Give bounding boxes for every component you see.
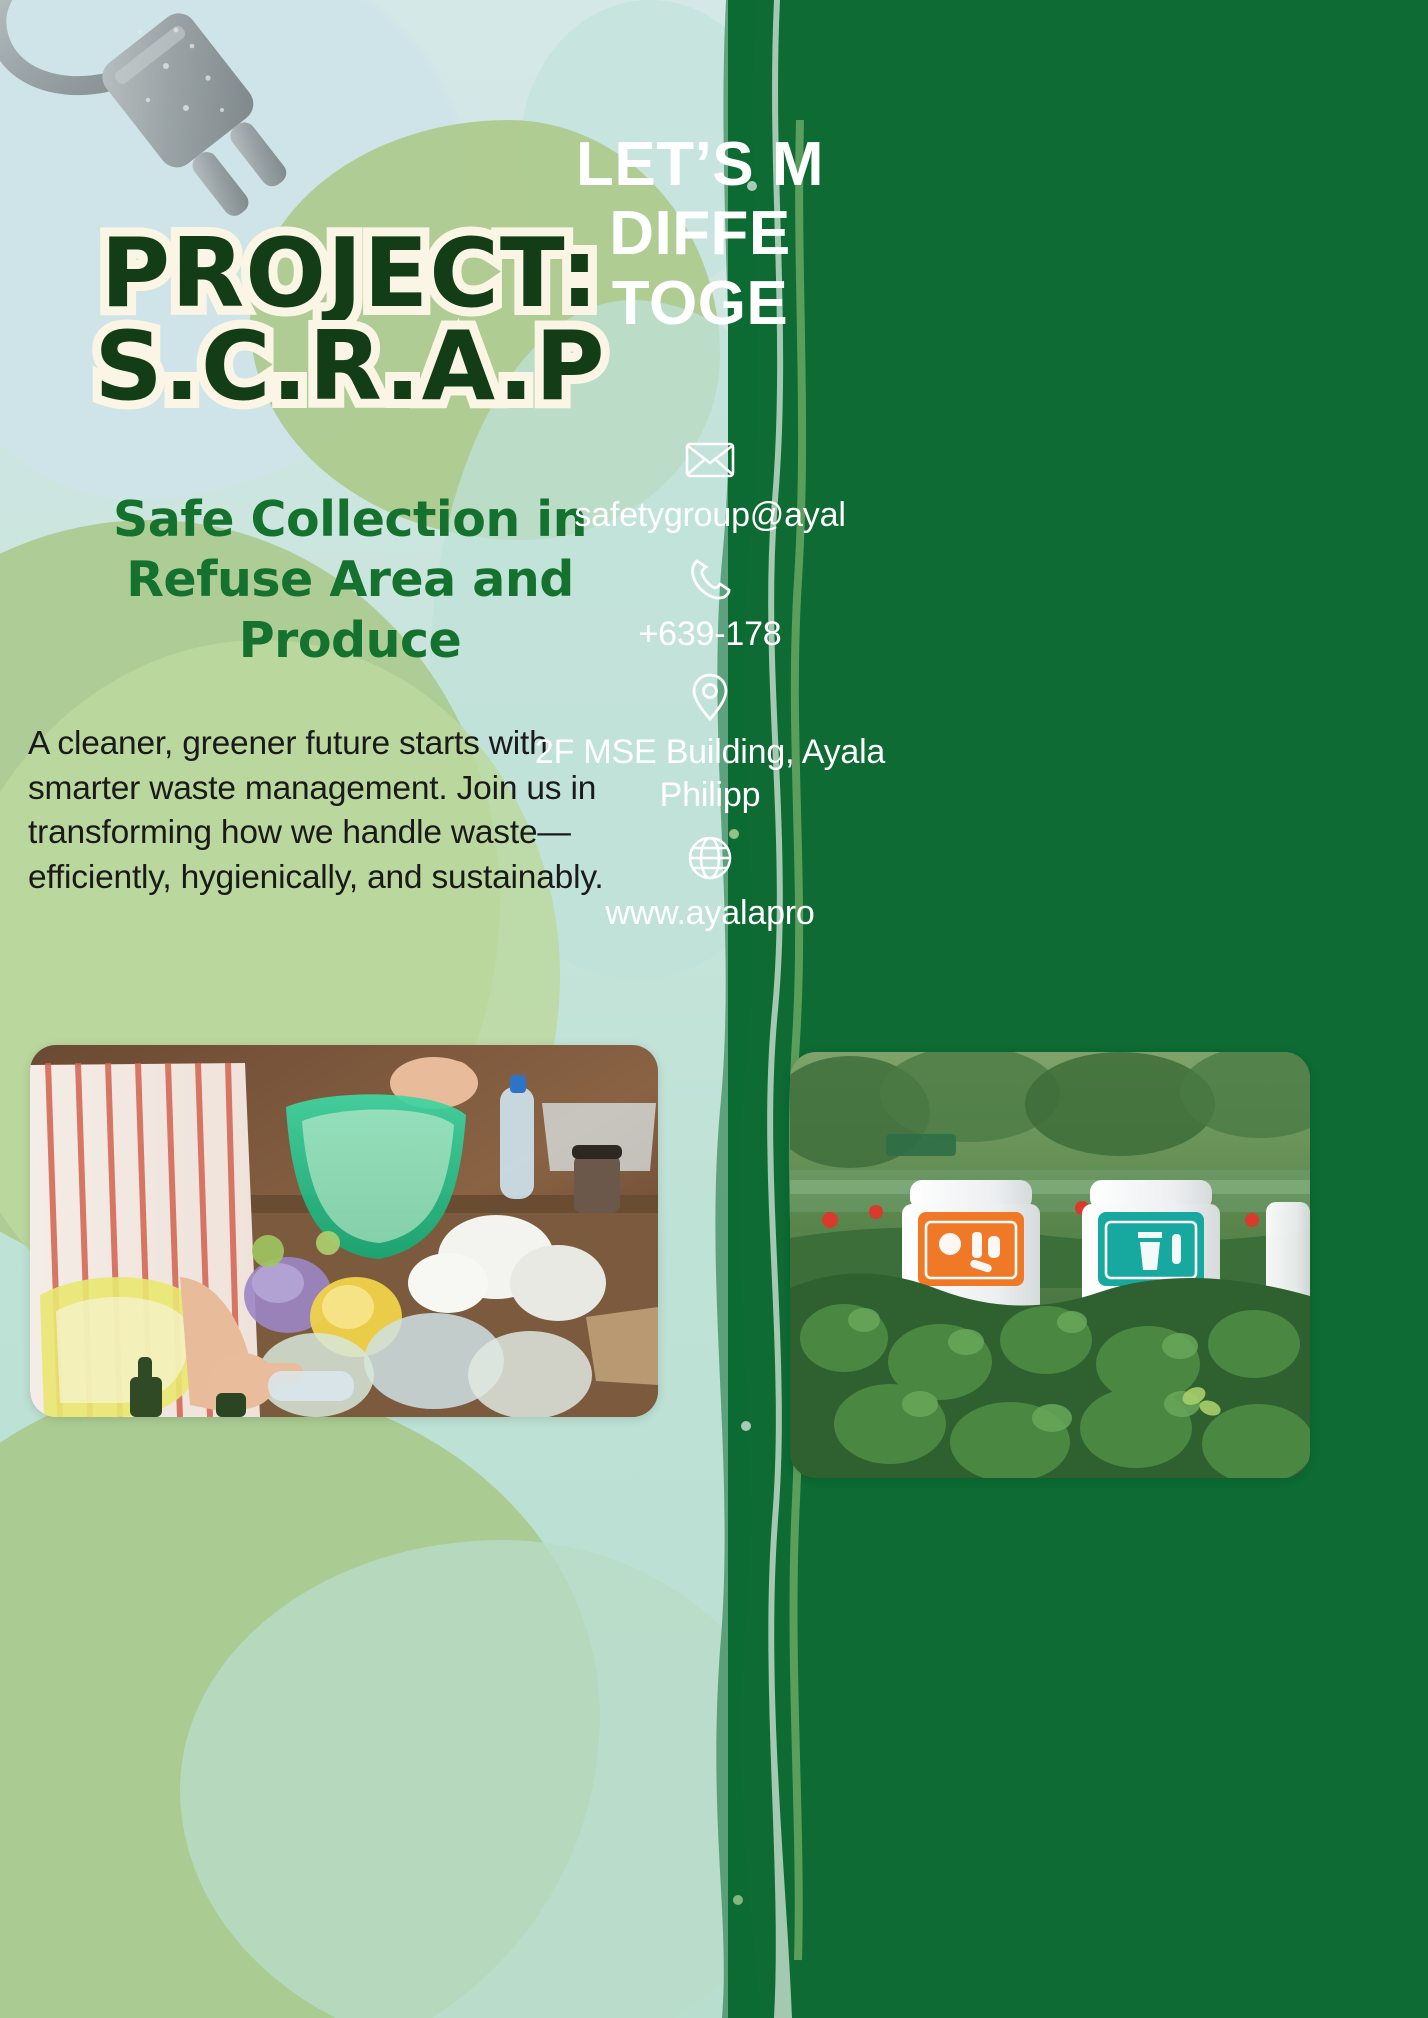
- address-text: 2F MSE Building, Ayala Philipp: [330, 731, 1090, 816]
- cta-line-3: TOGE: [350, 269, 1050, 338]
- cta-line-1: LET’S M: [350, 130, 1050, 199]
- email-address-text: safetygroup@ayal: [330, 494, 1090, 537]
- left-photo: [30, 1045, 658, 1417]
- location-pin-icon: [330, 669, 1090, 725]
- contact-item-address[interactable]: 2F MSE Building, Ayala Philipp: [330, 669, 1090, 816]
- contact-info-list: safetygroup@ayal +639-178 2F MSE Buildin…: [330, 432, 1090, 949]
- phone-number-text: +639-178: [330, 613, 1090, 656]
- envelope-icon: [330, 432, 1090, 488]
- globe-icon: [330, 830, 1090, 886]
- cta-line-2: DIFFE: [350, 199, 1050, 268]
- person-sorting-waste-image: [30, 1045, 658, 1417]
- poster-canvas: PROJECT: S.C.R.A.P Safe Collection in Re…: [0, 0, 1428, 2018]
- contact-item-email[interactable]: safetygroup@ayal: [330, 432, 1090, 537]
- contact-item-website[interactable]: www.ayalapro: [330, 830, 1090, 935]
- right-photo: [790, 1052, 1310, 1478]
- contact-item-phone[interactable]: +639-178: [330, 551, 1090, 656]
- call-to-action-heading: LET’S M DIFFE TOGE: [350, 130, 1050, 338]
- recycling-bins-image: [790, 1052, 1310, 1478]
- website-url-text: www.ayalapro: [330, 892, 1090, 935]
- phone-icon: [330, 551, 1090, 607]
